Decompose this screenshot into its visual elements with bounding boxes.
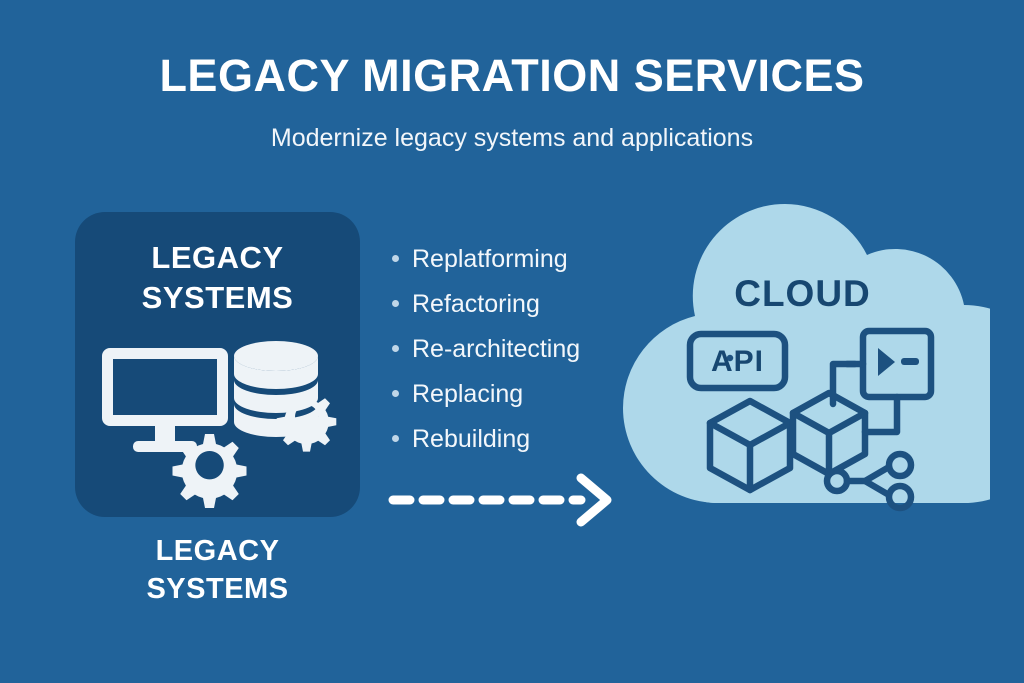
bullet-dot-icon — [392, 255, 399, 262]
cloud-target — [615, 198, 990, 513]
legacy-systems-panel: LEGACY SYSTEMS — [75, 212, 360, 517]
list-item-label: Replacing — [412, 378, 523, 410]
bullet-dot-icon — [392, 390, 399, 397]
migration-arrow — [385, 470, 625, 530]
gear-icon — [173, 434, 247, 508]
bullet-dot-icon — [392, 435, 399, 442]
dashed-arrow-right-icon — [385, 470, 625, 530]
legacy-panel-title: LEGACY SYSTEMS — [75, 238, 360, 318]
page-title: LEGACY MIGRATION SERVICES — [0, 50, 1024, 102]
page-subtitle: Modernize legacy systems and application… — [0, 122, 1024, 154]
list-item-label: Rebuilding — [412, 423, 530, 455]
list-item: Re-architecting — [392, 333, 632, 378]
api-badge-label: API — [690, 345, 785, 379]
list-item-label: Refactoring — [412, 288, 540, 320]
list-item: Rebuilding — [392, 423, 632, 468]
bullet-dot-icon — [392, 300, 399, 307]
list-item-label: Replatforming — [412, 243, 568, 275]
legacy-systems-caption: LEGACY SYSTEMS — [75, 532, 360, 608]
legacy-icons-group — [75, 330, 360, 510]
legacy-icons-svg — [75, 330, 360, 510]
migration-services-list: Replatforming Refactoring Re-architectin… — [392, 243, 632, 468]
cloud-svg — [615, 198, 990, 513]
list-item: Refactoring — [392, 288, 632, 333]
list-item: Replatforming — [392, 243, 632, 288]
diagram-canvas: LEGACY MIGRATION SERVICES Modernize lega… — [0, 0, 1024, 683]
list-item: Replacing — [392, 378, 632, 423]
database-icon — [234, 341, 318, 437]
bullet-dot-icon — [392, 345, 399, 352]
list-item-label: Re-architecting — [412, 333, 580, 365]
cloud-label: CLOUD — [615, 272, 990, 316]
